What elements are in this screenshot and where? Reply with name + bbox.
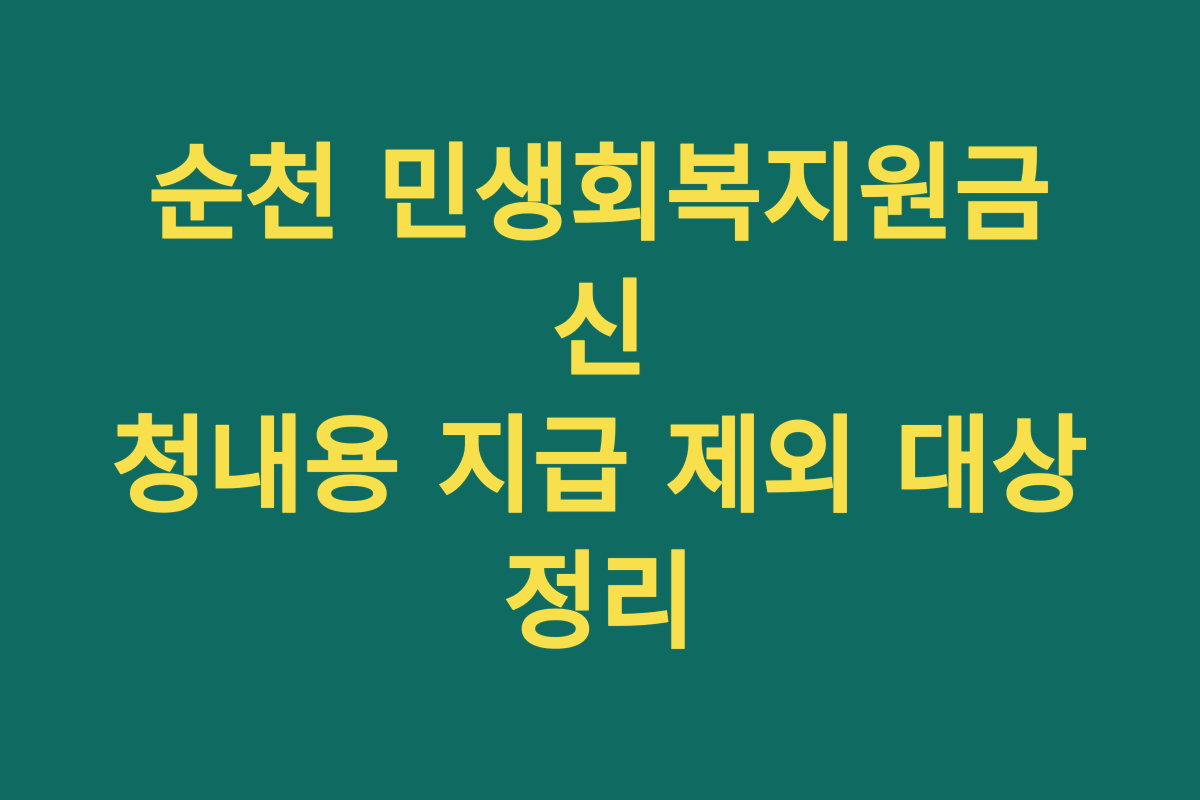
thumbnail-card: 순천 민생회복지원금 신 청내용 지급 제외 대상 정리 — [0, 0, 1200, 800]
headline-text: 순천 민생회복지원금 신 청내용 지급 제외 대상 정리 — [100, 126, 1100, 670]
